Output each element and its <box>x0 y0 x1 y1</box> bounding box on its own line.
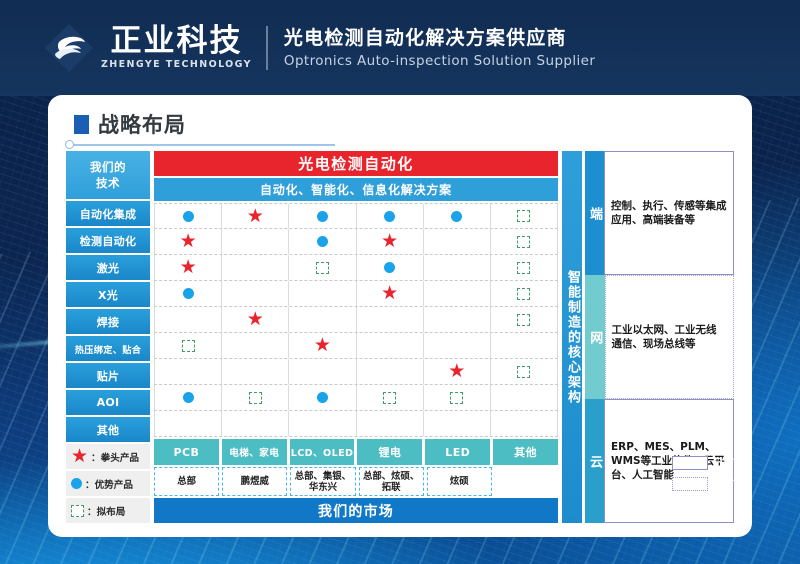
key-row-planned: 未布局 <box>672 476 745 491</box>
category-cell-2[interactable]: LCD、OLED <box>290 439 355 465</box>
dashed-box-icon <box>249 392 262 404</box>
matrix-row: ★ <box>154 255 558 281</box>
category-cell-4[interactable]: LED <box>425 439 490 465</box>
tech-row-label-1[interactable]: 检测自动化 <box>66 228 150 253</box>
matrix-cell-0-1[interactable]: ★ <box>222 204 289 228</box>
category-cell-3[interactable]: 锂电 <box>357 439 422 465</box>
dashed-box-icon <box>517 262 530 274</box>
matrix-cell-7-2[interactable] <box>289 385 356 410</box>
matrix-cell-4-3[interactable] <box>357 307 424 332</box>
dot-icon <box>183 288 194 299</box>
company-cell-2: 总部、集银、华东兴 <box>290 467 355 496</box>
matrix-cell-4-1[interactable]: ★ <box>222 307 289 332</box>
legend-star-label: ：拳头产品 <box>91 450 139 464</box>
title-square-icon <box>74 115 89 134</box>
matrix-cell-5-4[interactable] <box>424 333 491 358</box>
matrix-cell-4-0[interactable] <box>154 307 222 332</box>
category-cell-0[interactable]: PCB <box>154 439 219 465</box>
matrix-body: ★★★★★★★★ <box>154 203 558 437</box>
matrix-cell-2-4[interactable] <box>424 255 491 280</box>
tech-row-label-8[interactable]: 其他 <box>66 417 150 442</box>
layer-tag-duan: 端 <box>585 151 604 275</box>
star-icon: ★ <box>180 232 197 251</box>
dashed-box-icon <box>182 340 195 352</box>
matrix-cell-0-2[interactable] <box>289 204 356 228</box>
dot-icon <box>183 392 194 403</box>
matrix-row <box>154 385 558 411</box>
strategy-matrix: 我们的 技术 自动化集成 检测自动化 激光 X光 焊接 热压绑定、贴合 贴片 A… <box>66 151 734 523</box>
matrix-cell-4-5[interactable] <box>491 307 558 332</box>
category-cell-5[interactable]: 其他 <box>493 439 558 465</box>
architecture-label: 智能制造的核心架构 <box>562 151 582 523</box>
dashed-box-icon <box>316 262 329 274</box>
company-cell-1: 鹏煜威 <box>222 467 287 496</box>
architecture-label-text: 智能制造的核心架构 <box>562 270 582 405</box>
matrix-cell-1-4[interactable] <box>424 229 491 254</box>
matrix-row: ★★ <box>154 229 558 255</box>
matrix-row: ★ <box>154 203 558 229</box>
matrix-cell-6-4[interactable]: ★ <box>424 359 491 384</box>
dot-icon <box>384 211 395 222</box>
matrix-cell-1-1[interactable] <box>222 229 289 254</box>
dashed-box-icon <box>450 392 463 404</box>
section-title: 战略布局 <box>74 109 186 139</box>
matrix-cell-6-5[interactable] <box>491 359 558 384</box>
legend-dot-label: ：优势产品 <box>85 477 133 491</box>
matrix-cell-8-1[interactable] <box>222 411 289 436</box>
matrix-cell-8-2[interactable] <box>289 411 356 436</box>
dashed-box-icon <box>517 366 530 378</box>
matrix-cell-7-4[interactable] <box>424 385 491 410</box>
layer-desc-duan: 控制、执行、传感等集成应用、高端装备等 <box>604 151 734 275</box>
header-slogan: 光电检测自动化解决方案供应商 Optronics Auto-inspection… <box>284 26 595 71</box>
matrix-row: ★ <box>154 359 558 385</box>
dashed-box-icon <box>517 236 530 248</box>
star-icon: ★ <box>71 447 88 466</box>
tech-row-label-4[interactable]: 焊接 <box>66 309 150 334</box>
banner-main: 光电检测自动化 <box>154 151 558 176</box>
tech-row-label-6[interactable]: 贴片 <box>66 363 150 388</box>
matrix-cell-3-3[interactable]: ★ <box>357 281 424 306</box>
layer-desc-wang: 工业以太网、工业无线通信、现场总线等 <box>605 275 734 399</box>
matrix-cell-5-2[interactable]: ★ <box>289 333 356 358</box>
matrix-cell-0-0[interactable] <box>154 204 222 228</box>
slogan-chinese: 光电检测自动化解决方案供应商 <box>284 26 595 51</box>
matrix-cell-2-5[interactable] <box>491 255 558 280</box>
layer-tag-wang: 网 <box>585 275 605 399</box>
matrix-cell-4-4[interactable] <box>424 307 491 332</box>
matrix-cell-2-3[interactable] <box>357 255 424 280</box>
matrix-cell-6-0[interactable] <box>154 359 222 384</box>
dashed-box-icon <box>71 505 84 517</box>
layout-key: 已布局 未布局 <box>672 455 745 491</box>
dot-icon <box>183 211 194 222</box>
matrix-cell-2-2[interactable] <box>289 255 356 280</box>
star-icon: ★ <box>381 284 398 303</box>
dashed-box-icon <box>517 314 530 326</box>
company-cell-5 <box>495 467 558 496</box>
content-card: 战略布局 我们的 技术 自动化集成 检测自动化 激光 X光 焊接 热压绑定、贴合… <box>48 95 752 537</box>
matrix-cell-7-0[interactable] <box>154 385 222 410</box>
matrix-cell-3-5[interactable] <box>491 281 558 306</box>
matrix-cell-5-0[interactable] <box>154 333 222 358</box>
logo-english-name: ZHENGYE TECHNOLOGY <box>101 58 252 72</box>
dashed-box-icon <box>517 288 530 300</box>
matrix-cell-3-4[interactable] <box>424 281 491 306</box>
matrix-cell-8-3[interactable] <box>357 411 424 436</box>
legend-item-star: ★ ：拳头产品 <box>66 444 150 469</box>
matrix-cell-1-0[interactable]: ★ <box>154 229 222 254</box>
legend-plan-label: ：拟布局 <box>87 504 125 518</box>
header-divider <box>266 26 268 70</box>
layer-tag-yun: 云 <box>585 399 604 523</box>
dotted-box-icon <box>672 477 708 491</box>
company-cell-3: 总部、炫硕、拓联 <box>359 467 424 496</box>
dot-icon <box>384 262 395 273</box>
company-cell-0: 总部 <box>154 467 219 496</box>
architecture-layer-wang[interactable]: 网 工业以太网、工业无线通信、现场总线等 <box>585 275 734 399</box>
zhengye-logo-icon <box>43 22 95 74</box>
matrix-cell-5-3[interactable] <box>357 333 424 358</box>
matrix-cell-5-1[interactable] <box>222 333 289 358</box>
star-icon: ★ <box>314 336 331 355</box>
dot-icon <box>71 478 82 489</box>
star-icon: ★ <box>180 258 197 277</box>
legend-item-dot: ：优势产品 <box>66 471 150 496</box>
star-icon: ★ <box>448 362 465 381</box>
matrix-cell-8-0[interactable] <box>154 411 222 436</box>
matrix-cell-7-5[interactable] <box>491 385 558 410</box>
matrix-cell-7-1[interactable] <box>222 385 289 410</box>
matrix-column: 光电检测自动化 自动化、智能化、信息化解决方案 ★★★★★★★★ PCB 电梯、… <box>154 151 558 523</box>
matrix-row: ★ <box>154 281 558 307</box>
tech-row-label-3[interactable]: X光 <box>66 282 150 307</box>
page-header: 正业科技 ZHENGYE TECHNOLOGY 光电检测自动化解决方案供应商 O… <box>0 0 800 96</box>
technology-column: 我们的 技术 自动化集成 检测自动化 激光 X光 焊接 热压绑定、贴合 贴片 A… <box>66 151 150 523</box>
matrix-cell-1-3[interactable]: ★ <box>357 229 424 254</box>
tech-row-label-5[interactable]: 热压绑定、贴合 <box>66 336 150 361</box>
company-row: 总部 鹏煜威 总部、集银、华东兴 总部、炫硕、拓联 炫硕 <box>154 467 558 496</box>
matrix-cell-0-3[interactable] <box>357 204 424 228</box>
matrix-cell-4-2[interactable] <box>289 307 356 332</box>
matrix-cell-3-0[interactable] <box>154 281 222 306</box>
title-dot-icon <box>65 140 74 149</box>
architecture-layer-duan[interactable]: 端 控制、执行、传感等集成应用、高端装备等 <box>585 151 734 275</box>
dot-icon <box>317 236 328 247</box>
company-cell-4: 炫硕 <box>427 467 492 496</box>
matrix-cell-1-2[interactable] <box>289 229 356 254</box>
slogan-english: Optronics Auto-inspection Solution Suppl… <box>284 51 595 71</box>
dot-icon <box>317 392 328 403</box>
tech-row-label-0[interactable]: 自动化集成 <box>66 201 150 226</box>
logo-chinese-name: 正业科技 <box>110 24 242 58</box>
title-underline <box>73 144 335 146</box>
solid-box-icon <box>672 456 708 470</box>
matrix-cell-6-3[interactable] <box>357 359 424 384</box>
brand-logo: 正业科技 ZHENGYE TECHNOLOGY <box>43 22 252 74</box>
matrix-cell-2-0[interactable]: ★ <box>154 255 222 280</box>
matrix-row: ★ <box>154 307 558 333</box>
matrix-cell-1-5[interactable] <box>491 229 558 254</box>
page-title: 战略布局 <box>98 109 186 139</box>
dashed-box-icon <box>383 392 396 404</box>
matrix-cell-3-1[interactable] <box>222 281 289 306</box>
tech-row-label-2[interactable]: 激光 <box>66 255 150 280</box>
key-row-done: 已布局 <box>672 455 745 470</box>
dashed-box-icon <box>517 210 530 222</box>
legend-item-plan: ：拟布局 <box>66 498 150 523</box>
tech-header-line2: 技术 <box>96 175 120 191</box>
matrix-cell-0-5[interactable] <box>491 204 558 228</box>
dot-icon <box>451 211 462 222</box>
matrix-cell-3-2[interactable] <box>289 281 356 306</box>
market-bar: 我们的市场 <box>154 498 558 523</box>
category-row: PCB 电梯、家电 LCD、OLED 锂电 LED 其他 <box>154 439 558 465</box>
matrix-row <box>154 411 558 437</box>
dot-icon <box>317 211 328 222</box>
matrix-cell-6-2[interactable] <box>289 359 356 384</box>
tech-row-label-7[interactable]: AOI <box>66 390 150 415</box>
key-planned-label: 未布局 <box>713 476 745 491</box>
technology-column-header: 我们的 技术 <box>66 151 150 199</box>
matrix-row: ★ <box>154 333 558 359</box>
banner-sub: 自动化、智能化、信息化解决方案 <box>154 178 558 201</box>
star-icon: ★ <box>247 310 264 329</box>
matrix-cell-8-5[interactable] <box>491 411 558 436</box>
matrix-cell-2-1[interactable] <box>222 255 289 280</box>
matrix-cell-8-4[interactable] <box>424 411 491 436</box>
star-icon: ★ <box>381 232 398 251</box>
key-done-label: 已布局 <box>713 455 745 470</box>
tech-header-line1: 我们的 <box>90 159 126 175</box>
category-cell-1[interactable]: 电梯、家电 <box>222 439 287 465</box>
matrix-cell-7-3[interactable] <box>357 385 424 410</box>
matrix-cell-0-4[interactable] <box>424 204 491 228</box>
matrix-cell-6-1[interactable] <box>222 359 289 384</box>
star-icon: ★ <box>247 207 264 226</box>
matrix-cell-5-5[interactable] <box>491 333 558 358</box>
